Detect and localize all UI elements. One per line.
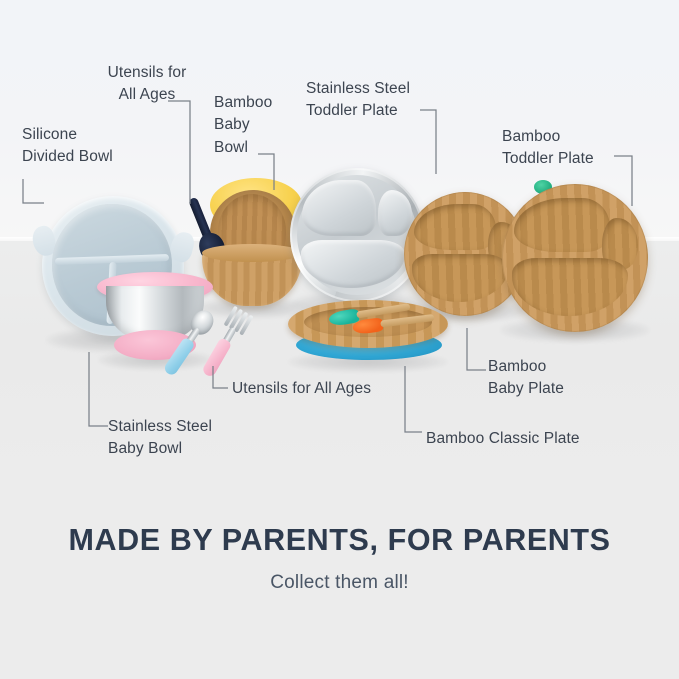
label-utensils-all-ages-bottom: Utensils for All Ages [232,378,432,400]
poster-subline: Collect them all! [0,572,679,594]
product-bamboo-toddler-plate-front [502,184,648,332]
label-bamboo-baby-bowl: Bamboo Baby Bowl [214,92,294,159]
label-bamboo-classic-plate: Bamboo Classic Plate [426,428,636,450]
label-utensils-all-ages-top: Utensils for All Ages [98,62,196,107]
product-steel-utensils-pair [196,306,308,362]
label-bamboo-baby-plate: Bamboo Baby Plate [488,356,628,401]
label-silicone-divided-bowl: Silicone Divided Bowl [22,124,192,169]
label-stainless-steel-baby-bowl: Stainless Steel Baby Bowl [108,416,278,461]
poster-headline: MADE BY PARENTS, FOR PARENTS [0,523,679,558]
product-infographic-poster: Silicone Divided Bowl Utensils for All A… [0,0,679,679]
label-bamboo-toddler-plate: Bamboo Toddler Plate [502,126,662,171]
bamboo-baby-bowl-front-rim [202,244,302,262]
label-stainless-steel-toddler-plate: Stainless Steel Toddler Plate [306,78,462,123]
